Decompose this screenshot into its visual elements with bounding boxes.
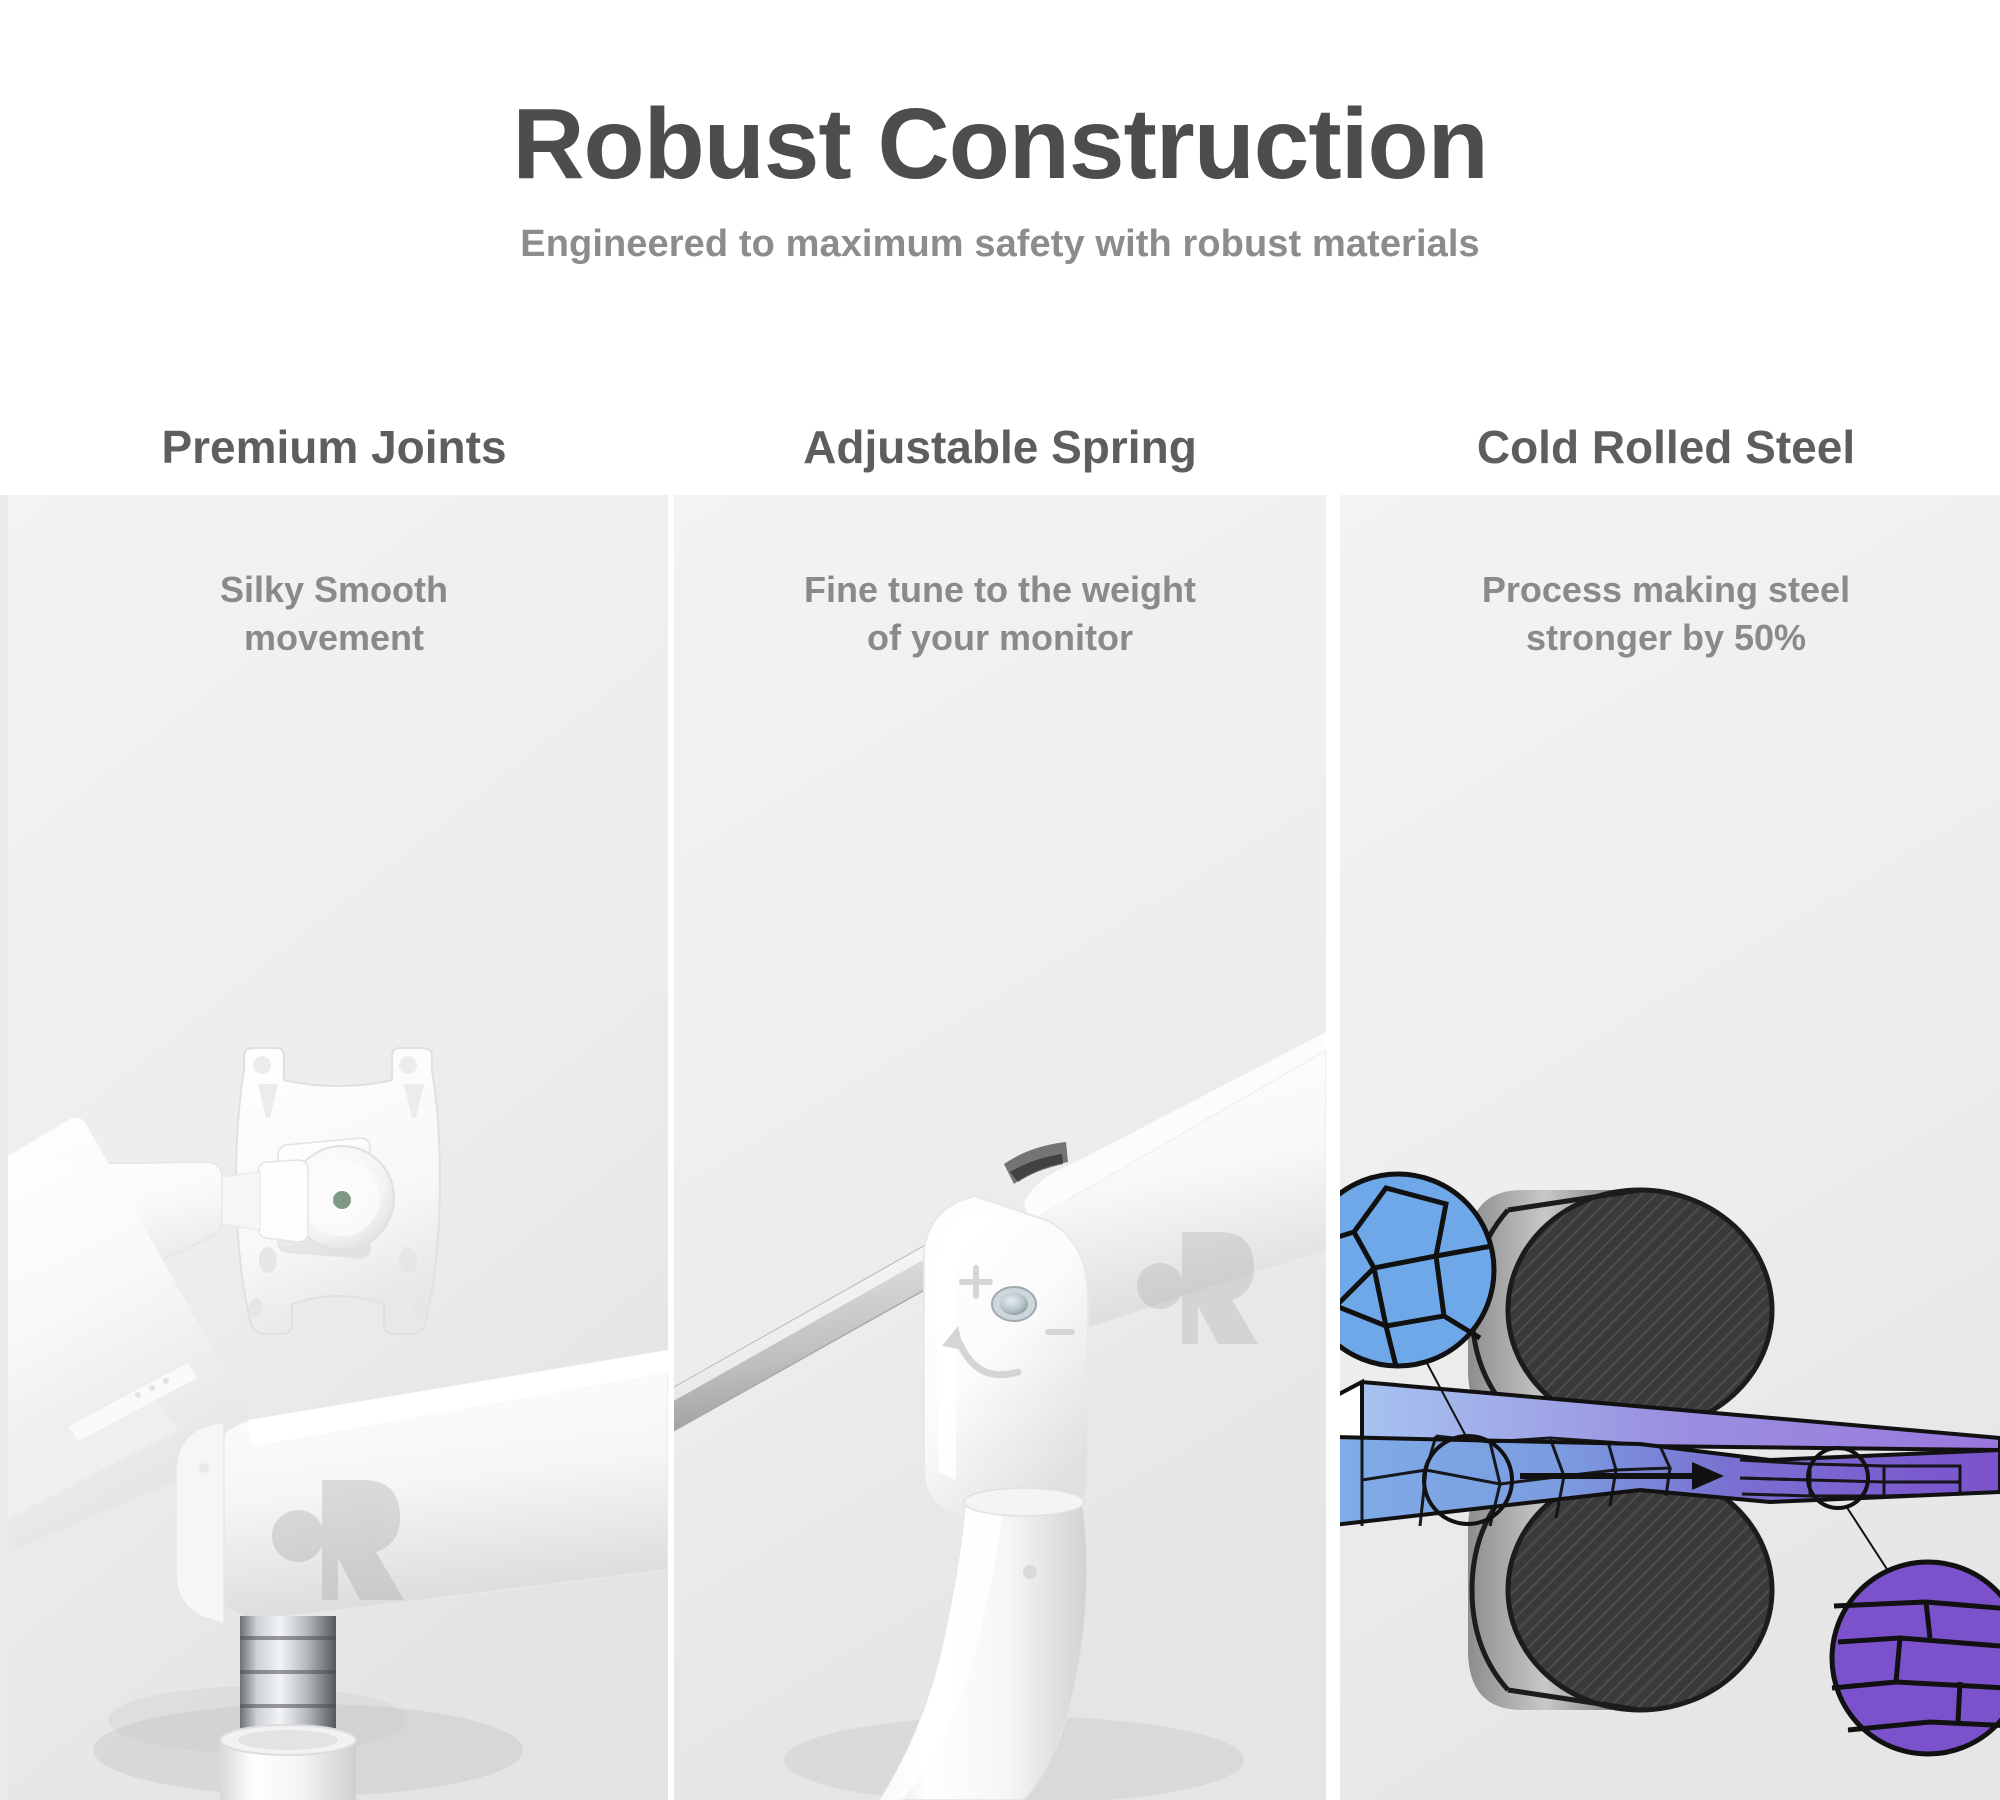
card-body-adjustable-spring: Fine tune to the weight of your monitor [674, 566, 1326, 662]
card-panel-cold-rolled-steel [1340, 495, 2000, 1800]
page-subtitle: Engineered to maximum safety with robust… [0, 223, 2000, 266]
feature-card-premium-joints: Premium Joints Silky Smooth movement [8, 420, 660, 1800]
card-body-premium-joints: Silky Smooth movement [8, 566, 660, 662]
card-panel-adjustable-spring [674, 495, 1326, 1800]
feature-card-cold-rolled-steel: Cold Rolled Steel Process making steel s… [1340, 420, 1992, 1800]
card-heading-premium-joints: Premium Joints [8, 420, 660, 474]
feature-card-row: Premium Joints Silky Smooth movement [0, 420, 2000, 1800]
card-body-cold-rolled-steel: Process making steel stronger by 50% [1340, 566, 1992, 662]
feature-card-adjustable-spring: Adjustable Spring Fine tune to the weigh… [674, 420, 1326, 1800]
card-panel-premium-joints [0, 495, 660, 1800]
card-heading-adjustable-spring: Adjustable Spring [674, 420, 1326, 474]
page-title: Robust Construction [0, 92, 2000, 197]
page-header: Robust Construction Engineered to maximu… [0, 0, 2000, 266]
card-heading-cold-rolled-steel: Cold Rolled Steel [1340, 420, 1992, 474]
